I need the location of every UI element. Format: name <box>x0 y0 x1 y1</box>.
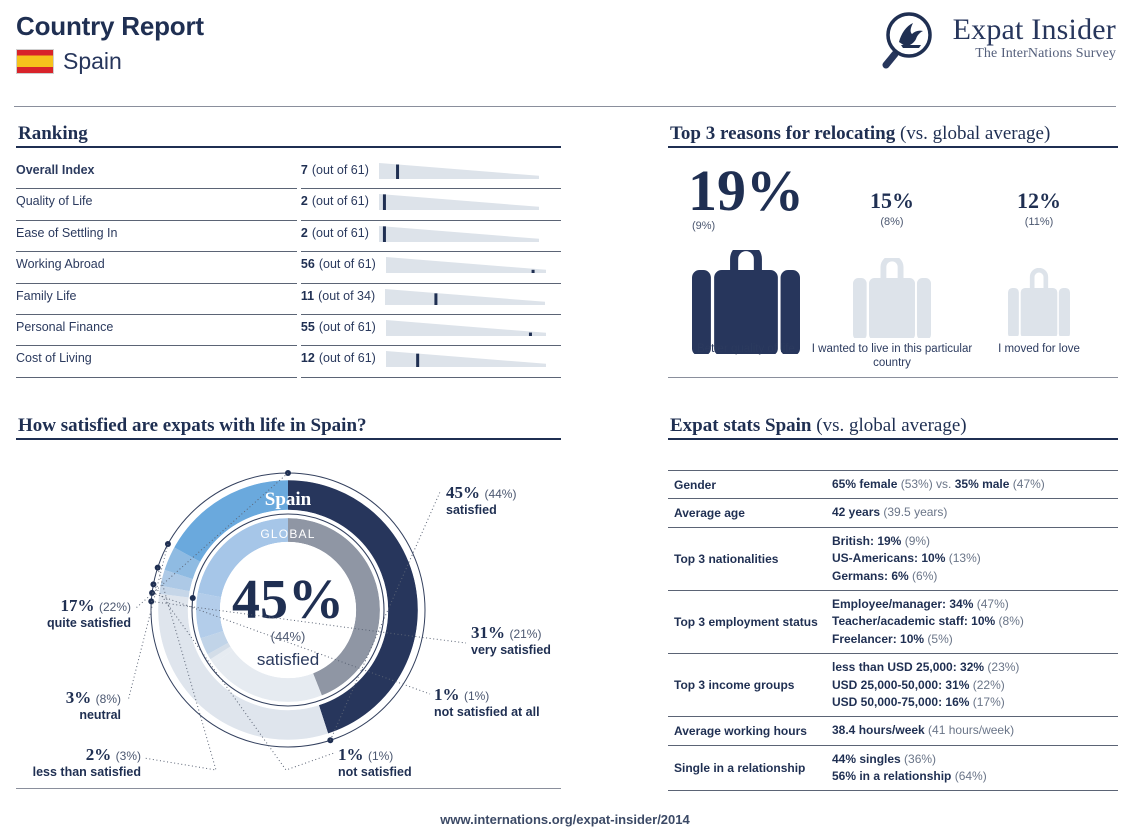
stats-heading-bold: Expat stats Spain <box>670 415 812 436</box>
donut-label-not-satisfied-pct: 1% <box>338 745 364 764</box>
ranking-wedge-shape <box>386 257 546 273</box>
donut-label-not-satisfied: 1% (1%) not satisfied <box>338 745 412 779</box>
donut-label-less-than-satisfied-name: less than satisfied <box>16 765 141 779</box>
donut-label-neutral-pct: 3% <box>66 688 92 707</box>
ranking-heading: Ranking <box>18 123 88 145</box>
stats-row-line: Freelancer: 10% (5%) <box>832 631 1114 648</box>
stats-row-key: Top 3 income groups <box>668 673 828 697</box>
stats-table: Gender65% female (53%) vs. 35% male (47%… <box>668 470 1118 791</box>
footer-url[interactable]: www.internations.org/expat-insider/2014 <box>0 812 1130 827</box>
donut-label-less-than-satisfied-global: (3%) <box>116 749 141 763</box>
ranking-row-rank: 12 <box>301 351 315 365</box>
ranking-row-value: 12(out of 61) <box>301 346 561 377</box>
expat-insider-logo: Expat Insider The InterNations Survey <box>879 8 1116 70</box>
donut-label-very-satisfied-name: very satisfied <box>471 643 551 657</box>
ranking-table: Overall Index7(out of 61)Quality of Life… <box>16 158 561 378</box>
donut-label-not-satisfied-at-all-pct: 1% <box>434 685 460 704</box>
stats-row-key: Top 3 nationalities <box>668 547 828 571</box>
stats-row-value: 42 years (39.5 years) <box>828 499 1118 526</box>
suitcase-icon <box>692 250 800 354</box>
ranking-row: Family Life11(out of 34) <box>16 284 561 315</box>
reasons-heading-light: (vs. global average) <box>895 123 1050 144</box>
ranking-position-marker <box>435 293 438 305</box>
ranking-heading-text: Ranking <box>18 123 88 144</box>
stats-row-line: 38.4 hours/week (41 hours/week) <box>832 722 1114 739</box>
reason-icon <box>1008 268 1070 341</box>
ranking-row-value: 7(out of 61) <box>301 158 561 189</box>
ranking-row-value: 11(out of 34) <box>301 284 561 315</box>
stats-row-value: 38.4 hours/week (41 hours/week) <box>828 717 1118 744</box>
ranking-row-rank: 56 <box>301 257 315 271</box>
donut-label-not-satisfied-name: not satisfied <box>338 765 412 779</box>
satisfaction-heading: How satisfied are expats with life in Sp… <box>18 415 367 437</box>
country-name: Spain <box>63 48 122 75</box>
ranking-row: Working Abroad56(out of 61) <box>16 252 561 283</box>
donut-label-quite-satisfied-global: (22%) <box>99 600 131 614</box>
stats-row-line: US-Americans: 10% (13%) <box>832 550 1114 567</box>
donut-label-satisfied-global: (44%) <box>484 487 516 501</box>
header: Country Report Spain Expat Insider The I… <box>0 0 1130 108</box>
ranking-heading-underline <box>16 146 561 148</box>
stats-heading: Expat stats Spain (vs. global average) <box>670 415 967 437</box>
stats-row: Top 3 employment statusEmployee/manager:… <box>668 591 1118 654</box>
ranking-row-rank: 55 <box>301 320 315 334</box>
ranking-row: Cost of Living12(out of 61) <box>16 346 561 377</box>
ranking-position-marker <box>416 354 419 367</box>
stats-row-key: Single in a relationship <box>668 756 828 780</box>
stats-row-line: 42 years (39.5 years) <box>832 504 1114 521</box>
donut-inner-callout-dot <box>190 595 196 601</box>
ranking-row: Personal Finance55(out of 61) <box>16 315 561 346</box>
ranking-position-marker <box>383 226 386 242</box>
donut-label-very-satisfied: 31% (21%) very satisfied <box>471 623 551 657</box>
donut-outer-ring-label: Spain <box>265 489 312 510</box>
spain-flag-icon <box>16 49 54 74</box>
stats-row-value: 44% singles (36%)56% in a relationship (… <box>828 746 1118 791</box>
reason-caption: Better quality of life <box>661 342 831 356</box>
stats-row: Average age42 years (39.5 years) <box>668 499 1118 527</box>
satisfaction-heading-underline <box>16 438 561 440</box>
stats-row-line: British: 19% (9%) <box>832 533 1114 550</box>
donut-label-neutral-name: neutral <box>16 708 121 722</box>
ranking-wedge-shape <box>379 163 539 179</box>
stats-row-line: Teacher/academic staff: 10% (8%) <box>832 613 1114 630</box>
ranking-row-rank: 2 <box>301 194 308 208</box>
reasons-group: 19%(9%)Better quality of life15%(8%)I wa… <box>668 158 1118 373</box>
stats-row: Single in a relationship44% singles (36%… <box>668 746 1118 792</box>
ranking-row-total: (out of 61) <box>312 194 369 208</box>
stats-row-line: 44% singles (36%) <box>832 751 1114 768</box>
stats-row-line: 56% in a relationship (64%) <box>832 768 1114 785</box>
ranking-wedge <box>379 163 539 179</box>
donut-label-less-than-satisfied: 2% (3%) less than satisfied <box>16 745 141 779</box>
donut-center-percent: 45% <box>232 569 344 631</box>
ranking-wedge-shape <box>386 351 546 367</box>
stats-heading-underline <box>668 438 1118 440</box>
stats-row: Top 3 nationalitiesBritish: 19% (9%)US-A… <box>668 528 1118 591</box>
donut-label-satisfied-name: satisfied <box>446 503 516 517</box>
ranking-row-value: 55(out of 61) <box>301 315 561 346</box>
ranking-row-label: Family Life <box>16 284 297 315</box>
stats-row: Average working hours38.4 hours/week (41… <box>668 717 1118 745</box>
stats-row-key: Gender <box>668 473 828 497</box>
ranking-wedge-shape <box>386 320 546 336</box>
magnifier-bird-icon <box>879 8 945 70</box>
ranking-row-total: (out of 61) <box>312 163 369 177</box>
ranking-wedge <box>379 226 539 242</box>
donut-callout-dot <box>150 581 156 587</box>
stats-row-line: USD 25,000-50,000: 31% (22%) <box>832 677 1114 694</box>
reasons-heading-bold: Top 3 reasons for relocating <box>670 123 895 144</box>
donut-label-not-satisfied-global: (1%) <box>368 749 393 763</box>
ranking-row-total: (out of 34) <box>318 289 375 303</box>
ranking-row-rank: 2 <box>301 226 308 240</box>
reasons-bottom-divider <box>668 377 1118 378</box>
stats-row-value: 65% female (53%) vs. 35% male (47%) <box>828 471 1118 498</box>
ranking-row-label: Overall Index <box>16 158 297 189</box>
reason-percent: 12% <box>949 190 1129 212</box>
stats-row-key: Average age <box>668 501 828 525</box>
stats-row-line: Germans: 6% (6%) <box>832 568 1114 585</box>
ranking-position-marker <box>383 195 386 211</box>
ranking-row-label: Quality of Life <box>16 189 297 220</box>
suitcase-icon <box>853 258 931 338</box>
ranking-wedge-shape <box>379 226 539 242</box>
stats-row-value: British: 19% (9%)US-Americans: 10% (13%)… <box>828 528 1118 590</box>
ranking-wedge-shape <box>379 194 539 210</box>
reasons-heading-underline <box>668 146 1118 148</box>
ranking-wedge <box>386 320 546 336</box>
ranking-row-value: 56(out of 61) <box>301 252 561 283</box>
donut-label-less-than-satisfied-pct: 2% <box>86 745 112 764</box>
donut-label-not-satisfied-at-all-name: not satisfied at all <box>434 705 540 719</box>
donut-label-quite-satisfied-name: quite satisfied <box>16 616 131 630</box>
donut-label-satisfied: 45% (44%) satisfied <box>446 483 516 517</box>
ranking-row: Overall Index7(out of 61) <box>16 158 561 189</box>
donut-center-global: (44%) <box>271 629 306 644</box>
ranking-wedge <box>385 289 545 305</box>
stats-row-line: 65% female (53%) vs. 35% male (47%) <box>832 476 1114 493</box>
reason-caption: I moved for love <box>964 342 1114 356</box>
donut-label-neutral-global: (8%) <box>96 692 121 706</box>
ranking-row-rank: 7 <box>301 163 308 177</box>
stats-row: Gender65% female (53%) vs. 35% male (47%… <box>668 470 1118 499</box>
reason-global-percent: (11%) <box>949 216 1129 228</box>
page-title: Country Report <box>16 11 204 42</box>
ranking-position-marker <box>531 270 534 273</box>
donut-label-quite-satisfied-pct: 17% <box>61 596 95 615</box>
donut-label-quite-satisfied: 17% (22%) quite satisfied <box>16 596 131 630</box>
logo-subtitle: The InterNations Survey <box>975 45 1116 64</box>
ranking-position-marker <box>529 333 532 336</box>
suitcase-icon <box>1008 268 1070 336</box>
donut-label-neutral: 3% (8%) neutral <box>16 688 121 722</box>
ranking-position-marker <box>396 165 399 179</box>
ranking-row-value: 2(out of 61) <box>301 221 561 252</box>
ranking-row: Ease of Settling In2(out of 61) <box>16 221 561 252</box>
ranking-row-total: (out of 61) <box>319 351 376 365</box>
header-divider <box>14 106 1116 107</box>
satisfaction-donut-chart: SpainGLOBAL45%(44%)satisfied 45% (44%) s… <box>16 448 561 788</box>
ranking-wedge <box>386 257 546 273</box>
stats-row-value: less than USD 25,000: 32% (23%)USD 25,00… <box>828 654 1118 716</box>
ranking-row-total: (out of 61) <box>319 320 376 334</box>
satisfaction-bottom-divider <box>16 788 561 789</box>
reason-icon <box>853 258 931 343</box>
stats-row-key: Top 3 employment status <box>668 610 828 634</box>
donut-label-satisfied-pct: 45% <box>446 483 480 502</box>
donut-label-not-satisfied-at-all-global: (1%) <box>464 689 489 703</box>
infographic-page: Country Report Spain Expat Insider The I… <box>0 0 1130 840</box>
ranking-wedge-shape <box>385 289 545 305</box>
donut-center-caption: satisfied <box>257 650 319 669</box>
ranking-row-label: Personal Finance <box>16 315 297 346</box>
donut-label-very-satisfied-pct: 31% <box>471 623 505 642</box>
stats-row-line: less than USD 25,000: 32% (23%) <box>832 659 1114 676</box>
ranking-row: Quality of Life2(out of 61) <box>16 189 561 220</box>
logo-title: Expat Insider <box>953 15 1116 45</box>
ranking-row-total: (out of 61) <box>312 226 369 240</box>
satisfaction-heading-text: How satisfied are expats with life in Sp… <box>18 415 367 436</box>
logo-text: Expat Insider The InterNations Survey <box>953 15 1116 64</box>
stats-row: Top 3 income groupsless than USD 25,000:… <box>668 654 1118 717</box>
ranking-row-rank: 11 <box>301 289 314 303</box>
ranking-wedge <box>379 194 539 210</box>
stats-heading-light: (vs. global average) <box>812 415 967 436</box>
donut-segment-global <box>196 593 223 639</box>
donut-inner-ring-label: GLOBAL <box>260 527 315 541</box>
donut-label-very-satisfied-global: (21%) <box>509 627 541 641</box>
reason-caption: I wanted to live in this particular coun… <box>807 342 977 371</box>
ranking-wedge <box>386 351 546 367</box>
stats-row-key: Average working hours <box>668 719 828 743</box>
donut-label-not-satisfied-at-all: 1% (1%) not satisfied at all <box>434 685 540 719</box>
country-line: Spain <box>16 48 122 75</box>
ranking-row-label: Cost of Living <box>16 346 297 377</box>
stats-row-line: Employee/manager: 34% (47%) <box>832 596 1114 613</box>
stats-row-line: USD 50,000-75,000: 16% (17%) <box>832 694 1114 711</box>
ranking-row-label: Ease of Settling In <box>16 221 297 252</box>
reasons-heading: Top 3 reasons for relocating (vs. global… <box>670 123 1050 145</box>
ranking-row-total: (out of 61) <box>319 257 376 271</box>
stats-row-value: Employee/manager: 34% (47%)Teacher/acade… <box>828 591 1118 653</box>
ranking-row-value: 2(out of 61) <box>301 189 561 220</box>
ranking-row-label: Working Abroad <box>16 252 297 283</box>
